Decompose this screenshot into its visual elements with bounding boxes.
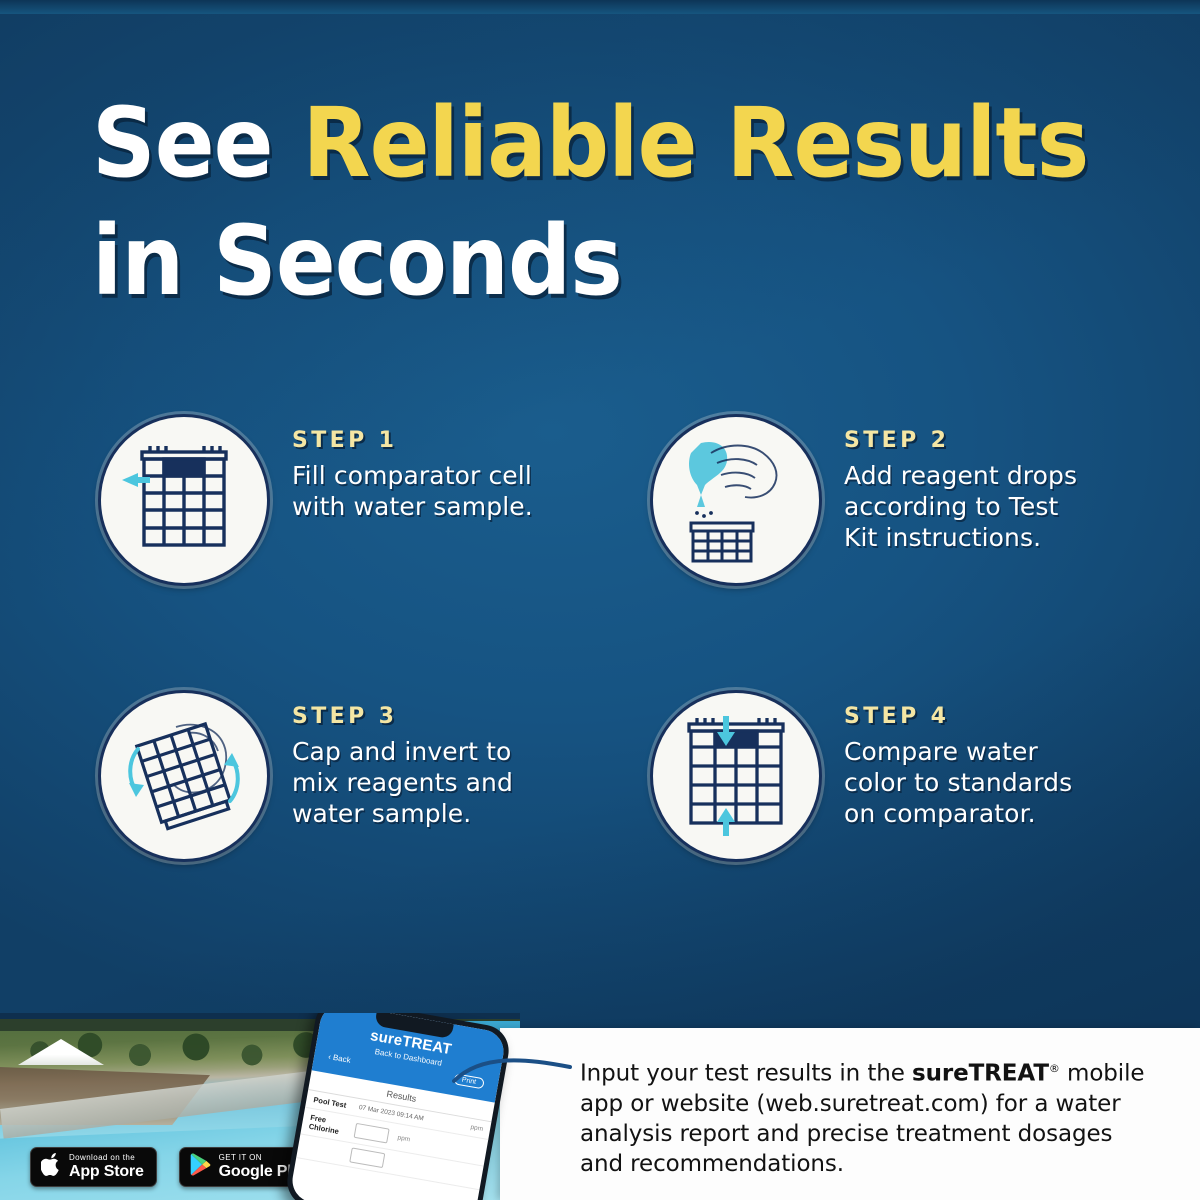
step-body-2: Add reagent drops according to Test Kit …	[844, 460, 1096, 553]
headline-line-in-seconds: in Seconds	[92, 202, 1058, 320]
step-text-2: STEP 2 Add reagent drops according to Te…	[844, 414, 1096, 553]
compare-color-standards-icon	[650, 690, 822, 862]
app-store-badge-small: Download on the	[69, 1154, 144, 1162]
step-body-3: Cap and invert to mix reagents and water…	[292, 736, 547, 829]
row-unit	[387, 1158, 406, 1168]
step-item-3: STEP 3 Cap and invert to mix reagents an…	[98, 690, 650, 966]
headline-word-reliable-results: Reliable Results	[302, 87, 1088, 199]
row-unit: ppm	[392, 1133, 411, 1143]
row-input-box[interactable]	[354, 1122, 390, 1143]
step-body-1: Fill comparator cell with water sample.	[292, 460, 547, 522]
step-text-1: STEP 1 Fill comparator cell with water s…	[292, 414, 547, 522]
info-panel: Input your test results in the sureTREAT…	[500, 1028, 1200, 1200]
google-play-icon	[190, 1153, 211, 1181]
invert-shake-comparator-icon	[98, 690, 270, 862]
row-name: Free Chlorine	[308, 1113, 352, 1138]
step-item-2: STEP 2 Add reagent drops according to Te…	[650, 414, 1118, 690]
apple-icon	[41, 1153, 61, 1182]
step-label-4: STEP 4	[844, 704, 1096, 729]
info-text-part1: Input your test results in the	[580, 1061, 912, 1087]
app-store-badge[interactable]: Download on the App Store	[30, 1147, 157, 1187]
phone-screen: sureTREAT Back to Dashboard ‹ Back Print…	[289, 1013, 507, 1200]
steps-grid: STEP 1 Fill comparator cell with water s…	[98, 414, 1118, 966]
bottom-band: Download on the App Store GET IT ON Goog…	[0, 1013, 1200, 1200]
app-store-badge-large: App Store	[69, 1164, 144, 1180]
brand-name: sureTREAT	[912, 1061, 1049, 1087]
row-unit: ppm	[465, 1123, 484, 1133]
page-title: See Reliable Results in Seconds	[92, 84, 1058, 320]
comparator-cell-fill-icon	[98, 414, 270, 586]
step-label-2: STEP 2	[844, 428, 1096, 453]
info-panel-text: Input your test results in the sureTREAT…	[580, 1054, 1160, 1179]
phone-mockup: sureTREAT Back to Dashboard ‹ Back Print…	[286, 1013, 526, 1200]
app-store-badge-text: Download on the App Store	[69, 1154, 144, 1180]
back-label: Back	[332, 1053, 351, 1065]
phone-device: sureTREAT Back to Dashboard ‹ Back Print…	[283, 1013, 512, 1200]
back-button[interactable]: ‹ Back	[327, 1052, 351, 1065]
step-body-4: Compare water color to standards on comp…	[844, 736, 1096, 829]
poster-canvas: See Reliable Results in Seconds	[0, 0, 1200, 1200]
step-item-4: STEP 4 Compare water color to standards …	[650, 690, 1118, 966]
row-name: Pool Test	[313, 1095, 356, 1111]
headline-word-see: See	[92, 87, 302, 199]
reagent-drops-icon	[695, 511, 713, 518]
step-item-1: STEP 1 Fill comparator cell with water s…	[98, 414, 650, 690]
step-label-3: STEP 3	[292, 704, 547, 729]
row-name	[304, 1142, 347, 1158]
top-edge-shade	[0, 0, 1200, 14]
registered-mark: ®	[1049, 1062, 1060, 1075]
callout-leader-line	[452, 1051, 572, 1091]
compare-arrow-up-icon	[717, 808, 735, 836]
row-input-box[interactable]	[349, 1147, 385, 1168]
step-label-1: STEP 1	[292, 428, 547, 453]
step-text-3: STEP 3 Cap and invert to mix reagents an…	[292, 690, 547, 829]
hand-dropper-reagent-icon	[650, 414, 822, 586]
step-text-4: STEP 4 Compare water color to standards …	[844, 690, 1096, 829]
store-badges: Download on the App Store GET IT ON Goog…	[30, 1147, 322, 1187]
